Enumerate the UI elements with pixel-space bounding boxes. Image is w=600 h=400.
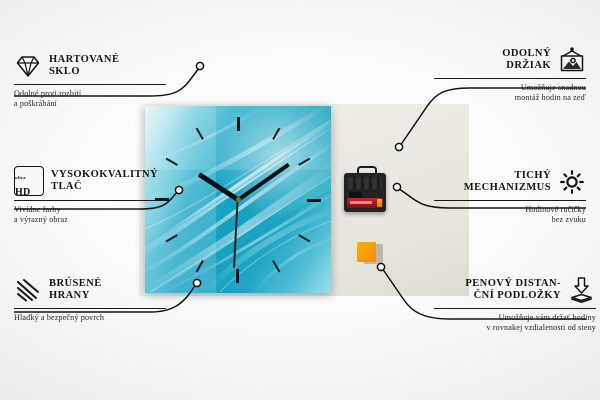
battery-stripe [350, 201, 372, 204]
feature-title: TICHÝ MECHANIZMUS [464, 170, 551, 195]
gear-icon [558, 168, 586, 196]
feature-description: Vivídne farby a výrazný obraz [14, 205, 166, 225]
feature-title: HARTOVANÉ SKLO [49, 54, 119, 79]
feature-header: TICHÝ MECHANIZMUS [434, 168, 586, 196]
divider [14, 308, 166, 309]
feature-description: Umožňuje vám držať hodiny v rovnakej vzd… [434, 313, 596, 333]
feature-header: ultra HD VYSOKOKVALITNÝ TLAČ [14, 166, 166, 196]
feature-durable-holder: ODOLNÝ DRŽIAK Umožňuje snadnou montáž ho… [434, 46, 586, 103]
divider [434, 200, 586, 201]
ground-edges-icon [14, 276, 42, 304]
feature-description: Umožňuje snadnou montáž hodin na zeď [434, 83, 586, 103]
feature-header: PENOVÝ DISTAN- ČNÍ PODLOŽKY [434, 276, 596, 304]
clock-tick-3 [238, 199, 321, 201]
battery [347, 198, 383, 208]
feature-title: BRÚSENÉ HRANY [49, 278, 102, 303]
feature-header: HARTOVANÉ SKLO [14, 52, 166, 80]
pad-foam [357, 242, 376, 262]
clock-tick-12 [237, 117, 239, 200]
divider [434, 78, 586, 79]
feature-ground-edges: BRÚSENÉ HRANY Hladký a bezpečný povrch [14, 276, 166, 323]
wall-clock-face [145, 106, 331, 293]
divider [14, 200, 166, 201]
feature-description: Odolné proti rozbití a poškrábání [14, 89, 166, 109]
feature-foam-spacers: PENOVÝ DISTAN- ČNÍ PODLOŽKY Umožňuje vám… [434, 276, 596, 333]
clock-tick-9 [155, 199, 238, 201]
press-pad-icon [568, 276, 596, 304]
clock-center-cap [236, 197, 241, 202]
feature-high-quality-print: ultra HD VYSOKOKVALITNÝ TLAČ Vivídne far… [14, 166, 166, 225]
clock-mechanism [344, 166, 386, 212]
feature-title: PENOVÝ DISTAN- ČNÍ PODLOŽKY [465, 278, 561, 303]
infographic-canvas: HARTOVANÉ SKLO Odolné proti rozbití a po… [0, 0, 600, 400]
battery-terminal [377, 199, 382, 207]
feature-silent-mechanism: TICHÝ MECHANIZMUS Hodinové ručičky bez z… [434, 168, 586, 225]
feature-tempered-glass: HARTOVANÉ SKLO Odolné proti rozbití a po… [14, 52, 166, 109]
foam-spacer-pad [357, 242, 383, 264]
divider [434, 308, 596, 309]
ultra-hd-icon: ultra HD [14, 166, 44, 196]
feature-title: ODOLNÝ DRŽIAK [502, 48, 551, 73]
feature-title: VYSOKOKVALITNÝ TLAČ [51, 169, 158, 194]
connector-dot-left-1 [196, 62, 203, 69]
feature-description: Hodinové ručičky bez zvuku [434, 205, 586, 225]
picture-hanger-icon [558, 46, 586, 74]
divider [14, 84, 166, 85]
feature-header: BRÚSENÉ HRANY [14, 276, 166, 304]
feature-header: ODOLNÝ DRŽIAK [434, 46, 586, 74]
diamond-icon [14, 52, 42, 80]
product-photo [139, 104, 469, 296]
feature-description: Hladký a bezpečný povrch [14, 313, 166, 323]
